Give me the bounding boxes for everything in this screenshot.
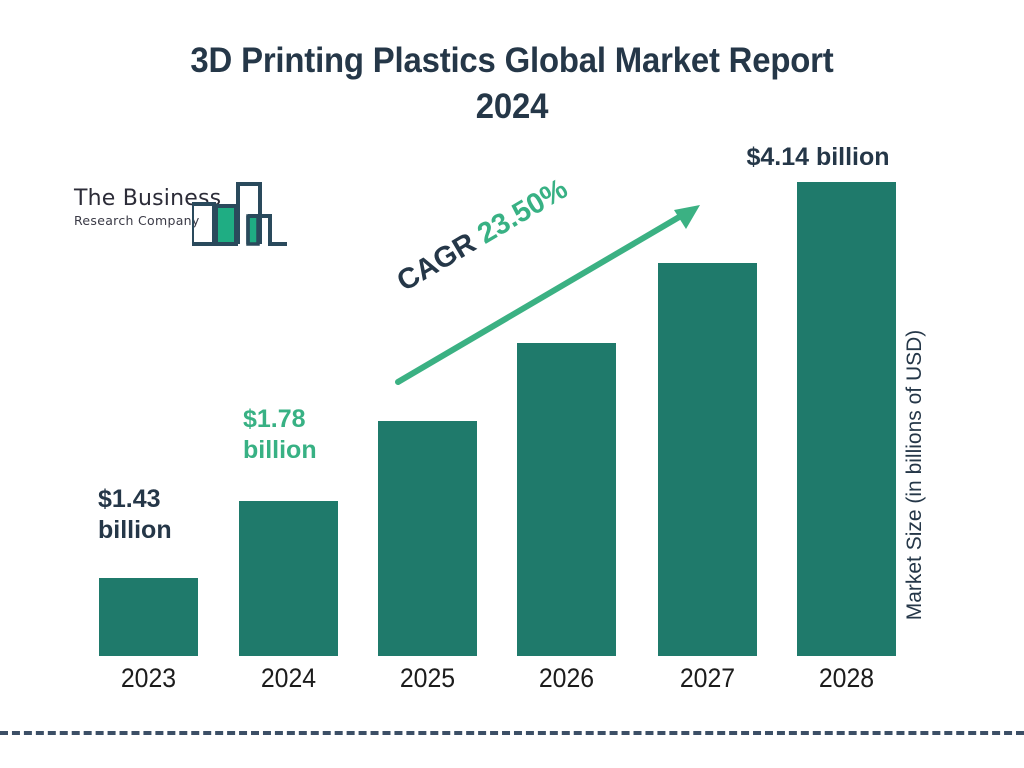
y-axis-title: Market Size (in billions of USD) — [903, 0, 927, 285]
cagr-value: 23.50% — [472, 173, 573, 250]
bar-2028 — [797, 182, 896, 656]
cagr-label: CAGR — [392, 227, 482, 298]
bar-2027 — [658, 263, 757, 656]
x-axis-label-2028: 2028 — [801, 663, 892, 694]
x-axis-label-2027: 2027 — [662, 663, 753, 694]
footer-divider — [0, 731, 1024, 735]
x-axis-label-2023: 2023 — [103, 663, 194, 694]
value-label-2028: $4.14 billion — [718, 142, 918, 173]
value-label-2024: $1.78 billion — [243, 404, 353, 465]
bar-chart-logo-mark-icon — [192, 174, 287, 257]
chart-canvas: 3D Printing Plastics Global Market Repor… — [0, 0, 1024, 768]
bar-2026 — [517, 343, 616, 656]
x-axis-label-2026: 2026 — [521, 663, 612, 694]
y-axis-title-text: Market Size (in billions of USD) — [903, 285, 927, 665]
cagr-annotation: CAGR 23.50% — [392, 173, 574, 299]
bar-2023 — [99, 578, 198, 656]
page-title: 3D Printing Plastics Global Market Repor… — [121, 38, 903, 130]
x-axis-label-2025: 2025 — [382, 663, 473, 694]
bar-2024 — [239, 501, 338, 656]
company-logo: The Business Research Company — [72, 174, 287, 252]
value-label-2023: $1.43 billion — [98, 484, 208, 545]
bar-2025 — [378, 421, 477, 656]
x-axis-label-2024: 2024 — [243, 663, 334, 694]
